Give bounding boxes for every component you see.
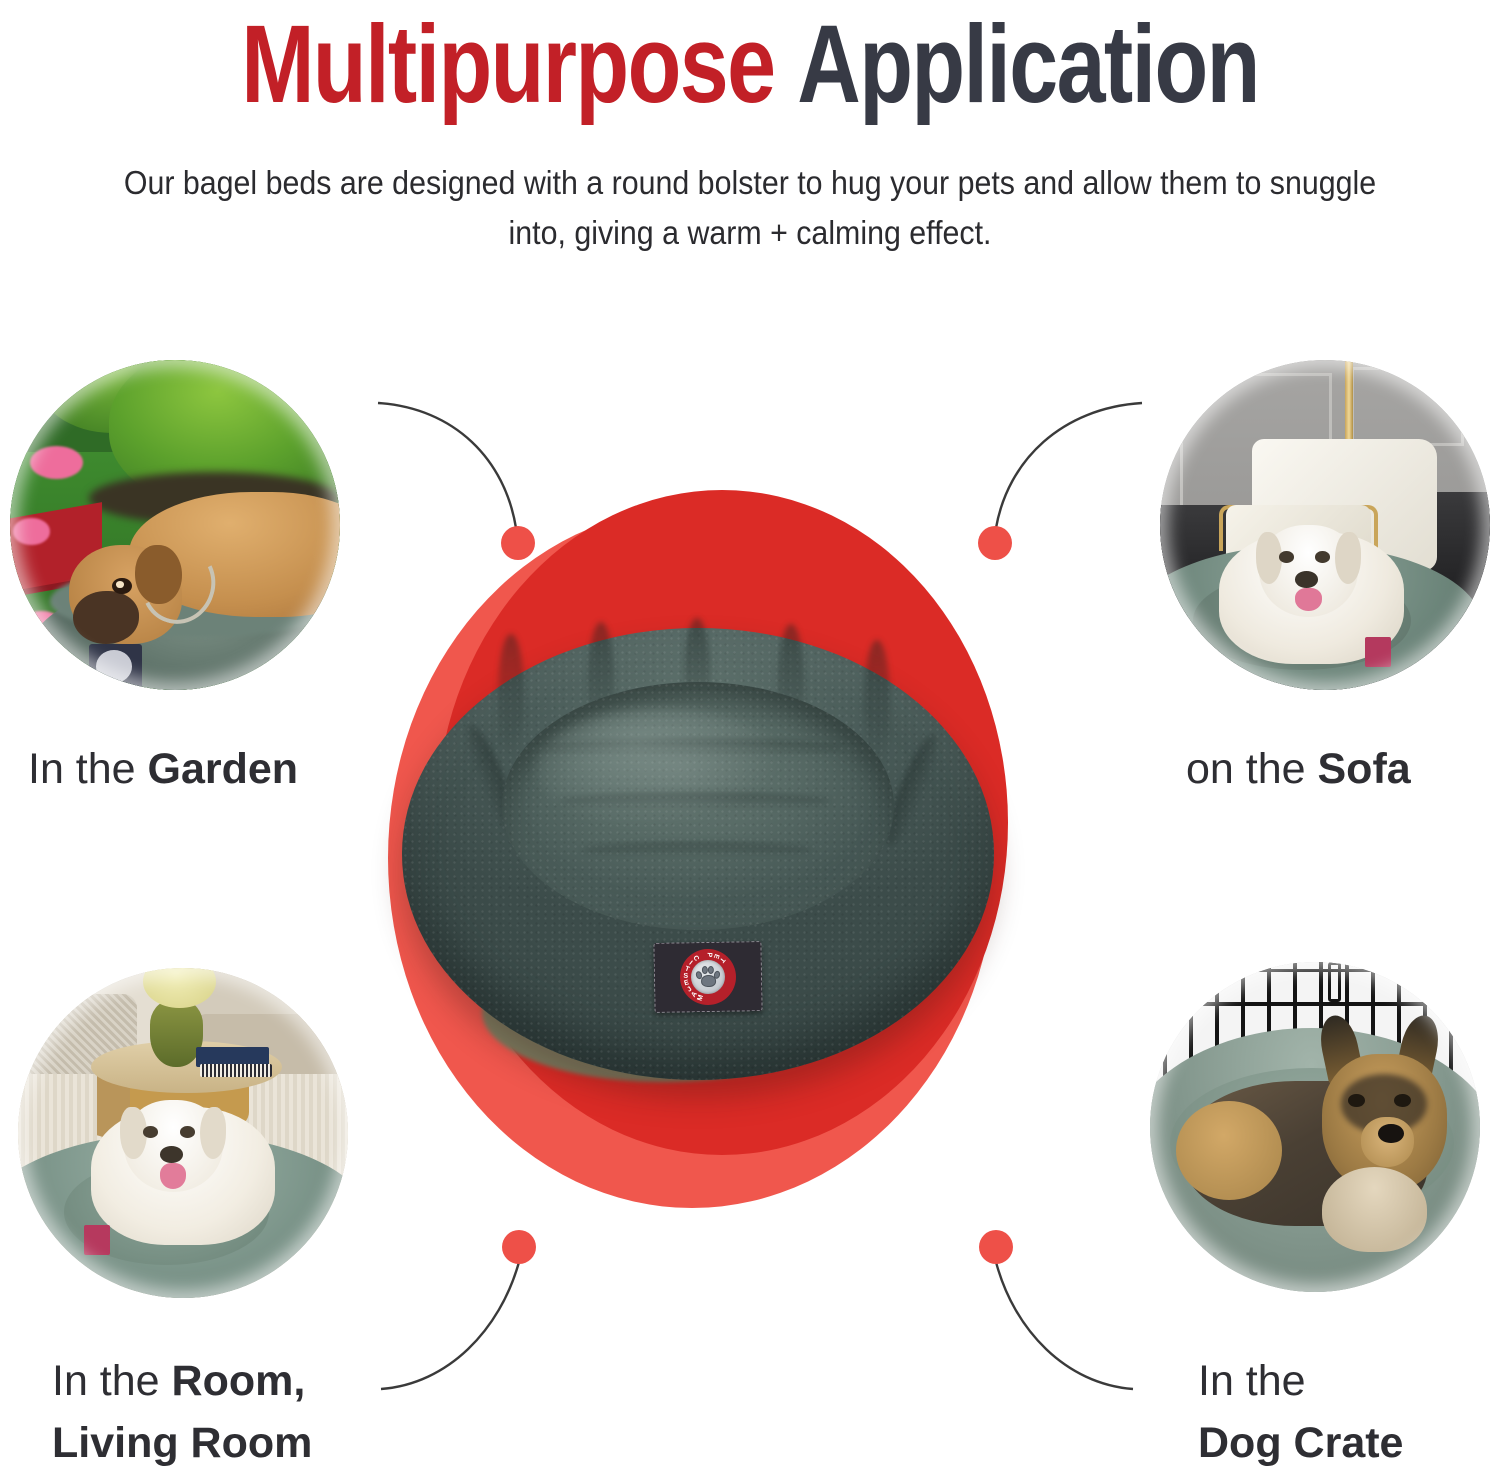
connector-sofa [996, 403, 1142, 528]
header-block: Multipurpose Application Our bagel beds … [0, 0, 1500, 258]
callout-livingroom-emphasis: Room, [172, 1357, 306, 1405]
callout-label-sofa: on the Sofa [1186, 738, 1411, 800]
callout-garden-emphasis: Garden [148, 745, 299, 793]
connector-livingroom [381, 1262, 519, 1389]
callout-image-garden [10, 360, 340, 690]
page-title-part1: Multipurpose [241, 3, 774, 126]
page-title-part2: Application [797, 3, 1259, 126]
callout-crate-line2: Dog Crate [1198, 1412, 1403, 1470]
callout-image-crate [1150, 962, 1480, 1292]
callout-label-garden: In the Garden [28, 738, 298, 800]
page-title: Multipurpose Application [150, 0, 1350, 124]
brand-badge: MAJESTIC PET [680, 949, 737, 1006]
callout-garden-prefix: In the [28, 745, 148, 793]
callout-sofa-emphasis: Sofa [1318, 745, 1411, 793]
brand-tag: MAJESTIC PET [653, 941, 762, 1013]
callout-sofa-prefix: on the [1186, 745, 1318, 793]
callout-label-livingroom: In the Room, Living Room [52, 1350, 312, 1470]
callout-livingroom-prefix: In the [52, 1357, 172, 1405]
product-bagel-bed: MAJESTIC PET [396, 612, 1000, 1132]
center-product-graphic: MAJESTIC PET [388, 490, 1008, 1230]
subtitle-line-1: Our bagel beds are designed with a round… [124, 164, 1262, 201]
connector-dot-livingroom [502, 1230, 536, 1264]
connector-dot-crate [979, 1230, 1013, 1264]
page-subtitle: Our bagel beds are designed with a round… [60, 158, 1440, 258]
callout-crate-prefix: In the [1198, 1357, 1306, 1405]
callout-image-sofa [1160, 360, 1490, 690]
callout-label-crate: In the Dog Crate [1198, 1350, 1403, 1470]
callout-image-livingroom [18, 968, 348, 1298]
infographic-canvas: Multipurpose Application Our bagel beds … [0, 0, 1500, 1470]
callout-livingroom-line2: Living Room [52, 1412, 312, 1470]
connector-crate [996, 1262, 1133, 1389]
